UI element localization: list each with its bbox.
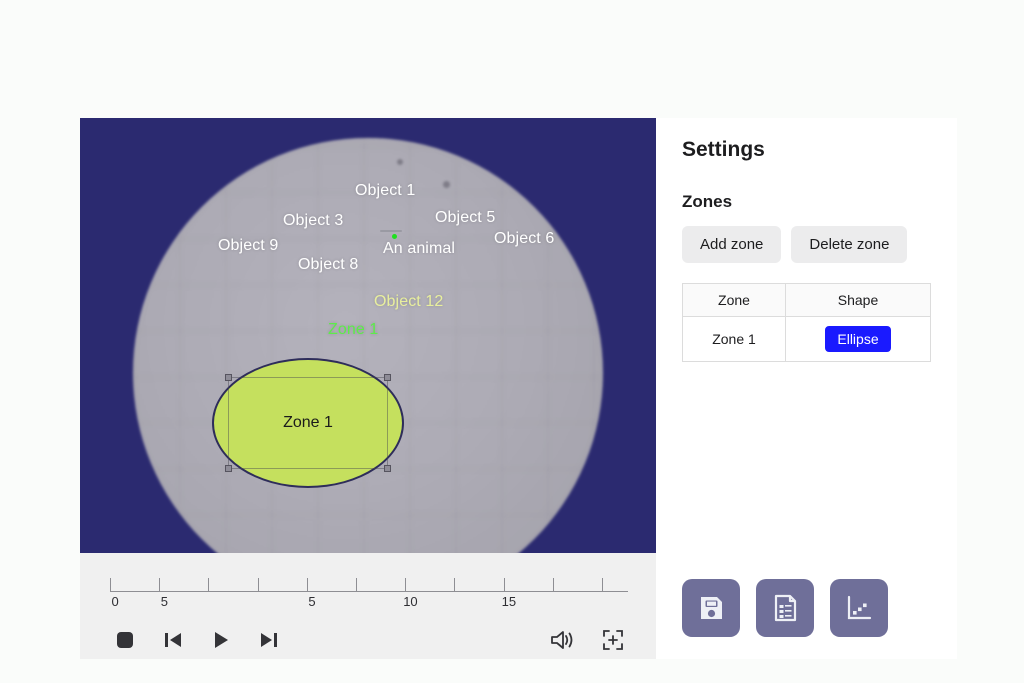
application-window: Object 1 Object 3 Object 5 Object 9 An a… [80, 118, 944, 659]
report-button[interactable] [756, 579, 814, 637]
ruler-tick [208, 578, 209, 591]
add-zone-button[interactable]: Add zone [682, 226, 781, 263]
object-label[interactable]: Object 6 [494, 230, 554, 248]
object-label[interactable]: Object 9 [218, 237, 278, 255]
animal-marker-dot [392, 234, 397, 239]
settings-title: Settings [682, 138, 931, 162]
zones-section-heading: Zones [682, 192, 931, 212]
shape-selector-chip[interactable]: Ellipse [825, 326, 890, 352]
timeline-ruler[interactable]: 0 5 5 10 15 [110, 571, 628, 611]
zone-overlay-label[interactable]: Zone 1 [328, 321, 378, 339]
previous-frame-button[interactable] [158, 625, 188, 655]
settings-panel: Settings Zones Add zone Delete zone Zone… [656, 118, 957, 659]
plot-button[interactable] [830, 579, 888, 637]
zone-ellipse-label: Zone 1 [283, 414, 333, 432]
ruler-axis-line [110, 591, 628, 592]
resize-handle-bottom-right[interactable] [384, 465, 391, 472]
play-icon [211, 630, 231, 650]
video-canvas[interactable]: Object 1 Object 3 Object 5 Object 9 An a… [80, 118, 656, 553]
save-button[interactable] [682, 579, 740, 637]
transport-right-controls [548, 625, 628, 655]
stop-button[interactable] [110, 625, 140, 655]
delete-zone-button[interactable]: Delete zone [791, 226, 907, 263]
volume-button[interactable] [548, 625, 578, 655]
ruler-tick [504, 578, 505, 591]
floppy-disk-icon [696, 593, 726, 623]
animal-label[interactable]: An animal [383, 240, 455, 258]
document-icon [770, 593, 800, 623]
add-zone-overlay-button[interactable] [598, 625, 628, 655]
ruler-tick [454, 578, 455, 591]
export-action-buttons [682, 579, 888, 637]
video-player-panel: Object 1 Object 3 Object 5 Object 9 An a… [80, 118, 656, 659]
ruler-tick [405, 578, 406, 591]
stop-icon [115, 630, 135, 650]
object-label[interactable]: Object 8 [298, 256, 358, 274]
object-label[interactable]: Object 5 [435, 209, 495, 227]
zone-action-buttons: Add zone Delete zone [682, 226, 931, 263]
resize-handle-bottom-left[interactable] [225, 465, 232, 472]
ruler-tick-label: 5 [161, 594, 168, 609]
resize-handle-top-right[interactable] [384, 374, 391, 381]
skip-forward-icon [259, 630, 279, 650]
skip-back-icon [163, 630, 183, 650]
zone-ellipse[interactable]: Zone 1 [212, 358, 404, 488]
ruler-tick [307, 578, 308, 591]
ruler-tick-label: 0 [112, 594, 119, 609]
ruler-tick-label: 15 [502, 594, 516, 609]
zones-table-head: Zone Shape [683, 284, 931, 317]
tracked-speck [397, 159, 403, 165]
next-frame-button[interactable] [254, 625, 284, 655]
playback-controls [110, 625, 284, 655]
transport-bar: 0 5 5 10 15 [80, 553, 656, 659]
ruler-tick-label: 10 [403, 594, 417, 609]
ruler-tick [356, 578, 357, 591]
scatter-chart-icon [844, 593, 874, 623]
zones-table-body: Zone 1 Ellipse [683, 317, 931, 362]
ruler-tick [258, 578, 259, 591]
object-label[interactable]: Object 3 [283, 212, 343, 230]
volume-icon [550, 629, 576, 651]
add-region-icon [602, 629, 624, 651]
column-header-zone: Zone [683, 284, 786, 317]
zones-table: Zone Shape Zone 1 Ellipse [682, 283, 931, 362]
ruler-tick [159, 578, 160, 591]
dish-texture-overlay [133, 138, 603, 553]
object-label[interactable]: Object 12 [374, 293, 443, 311]
object-label[interactable]: Object 1 [355, 182, 415, 200]
tracked-speck [443, 181, 450, 188]
ruler-tick [553, 578, 554, 591]
column-header-shape: Shape [786, 284, 931, 317]
cell-zone-name: Zone 1 [683, 317, 786, 362]
ruler-tick [602, 578, 603, 591]
ruler-tick-label: 5 [308, 594, 315, 609]
resize-handle-top-left[interactable] [225, 374, 232, 381]
animal-marker-bar [380, 230, 402, 232]
table-row[interactable]: Zone 1 Ellipse [683, 317, 931, 362]
cell-zone-shape: Ellipse [786, 317, 931, 362]
play-button[interactable] [206, 625, 236, 655]
table-header-row: Zone Shape [683, 284, 931, 317]
ruler-tick [110, 578, 111, 591]
zone-shape-group[interactable]: Zone 1 [212, 358, 404, 488]
